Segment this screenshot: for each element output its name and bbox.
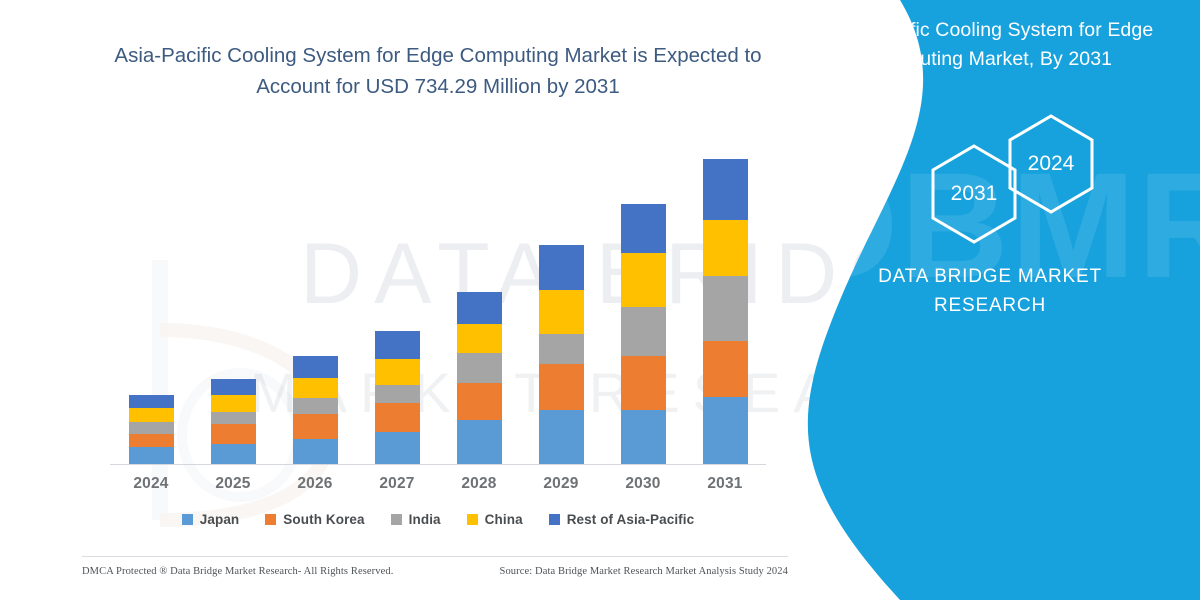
legend-item-rest-of-asia-pacific[interactable]: Rest of Asia-Pacific [549,512,695,527]
x-axis-label-2028: 2028 [438,475,520,493]
bar-segment-south-korea [375,403,420,431]
bar-segment-japan [457,420,502,464]
legend-swatch-icon [549,514,560,525]
bar-segment-india [539,334,584,363]
bar-segment-rest-of-asia-pacific [703,159,748,221]
x-axis-label-2031: 2031 [684,475,766,493]
chart-legend: JapanSouth KoreaIndiaChinaRest of Asia-P… [88,512,788,527]
bar-column [192,130,274,464]
chart-plot-area [110,130,766,465]
bar-segment-japan [621,410,666,464]
stacked-bar-2026 [293,356,338,464]
bar-segment-china [457,324,502,353]
stacked-bar-chart: 20242025202620272028202920302031 [88,130,788,470]
bar-segment-india [211,412,256,424]
footer-copyright: DMCA Protected ® Data Bridge Market Rese… [82,566,393,577]
stacked-bar-2031 [703,159,748,464]
footer-divider [82,556,788,557]
bar-segment-south-korea [703,341,748,397]
bar-segment-japan [129,447,174,464]
bar-segment-china [539,290,584,334]
x-axis-label-2029: 2029 [520,475,602,493]
legend-swatch-icon [182,514,193,525]
bar-segment-china [375,359,420,386]
hexagon-label-2031: 2031 [951,182,998,206]
bar-segment-south-korea [129,434,174,448]
x-axis-label-2027: 2027 [356,475,438,493]
bar-column [520,130,602,464]
bar-column [274,130,356,464]
bar-segment-china [129,408,174,422]
footer: DMCA Protected ® Data Bridge Market Rese… [82,566,788,577]
infographic-root: DATA BRIDGE MARKET RESEARCH Asia-Pacific… [0,0,1200,600]
bar-segment-japan [703,397,748,464]
legend-item-south-korea[interactable]: South Korea [265,512,364,527]
bar-segment-south-korea [293,414,338,440]
legend-item-japan[interactable]: Japan [182,512,240,527]
brand-line-2: RESEARCH [800,291,1180,320]
bar-segment-rest-of-asia-pacific [129,395,174,408]
bar-column [110,130,192,464]
bar-column [684,130,766,464]
legend-label: China [485,512,523,527]
bar-segment-china [703,220,748,276]
bar-segment-india [375,385,420,403]
bar-segment-china [621,253,666,307]
x-axis-label-2024: 2024 [110,475,192,493]
bar-segment-india [621,307,666,356]
legend-label: Japan [200,512,240,527]
legend-label: Rest of Asia-Pacific [567,512,695,527]
brand-line-1: DATA BRIDGE MARKET [800,262,1180,291]
bar-segment-china [293,378,338,399]
x-axis-label-2030: 2030 [602,475,684,493]
bar-column [438,130,520,464]
bar-segment-india [129,422,174,434]
x-axis-labels: 20242025202620272028202920302031 [110,475,766,493]
hexagon-label-2024: 2024 [1028,152,1075,176]
hexagon-year-2031: 2031 [928,142,1020,246]
bar-segment-japan [539,410,584,464]
hexagon-group: 2024 2031 [900,120,1160,240]
page-title: Asia-Pacific Cooling System for Edge Com… [88,40,788,102]
bar-column [602,130,684,464]
bar-segment-india [703,276,748,341]
bar-segment-rest-of-asia-pacific [539,245,584,290]
bar-segment-china [211,395,256,412]
legend-swatch-icon [467,514,478,525]
panel-title: Asia-Pacific Cooling System for Edge Com… [800,16,1180,75]
chart-bars [110,130,766,464]
stacked-bar-2025 [211,379,256,464]
x-axis-label-2025: 2025 [192,475,274,493]
legend-label: India [409,512,441,527]
x-axis-line [110,464,766,465]
legend-item-china[interactable]: China [467,512,523,527]
x-axis-label-2026: 2026 [274,475,356,493]
bar-segment-rest-of-asia-pacific [293,356,338,378]
stacked-bar-2024 [129,395,174,464]
stacked-bar-2029 [539,245,584,464]
bar-segment-india [457,353,502,383]
bar-segment-rest-of-asia-pacific [211,379,256,396]
legend-item-india[interactable]: India [391,512,441,527]
brand-panel: DBMR Asia-Pacific Cooling System for Edg… [780,0,1200,600]
legend-swatch-icon [265,514,276,525]
bar-segment-japan [293,439,338,464]
footer-source: Source: Data Bridge Market Research Mark… [500,566,788,577]
bar-segment-south-korea [539,364,584,410]
bar-segment-rest-of-asia-pacific [457,292,502,323]
bar-segment-rest-of-asia-pacific [375,331,420,359]
stacked-bar-2030 [621,204,666,464]
bar-segment-japan [375,432,420,464]
bar-segment-rest-of-asia-pacific [621,204,666,253]
stacked-bar-2027 [375,331,420,464]
bar-segment-south-korea [211,424,256,445]
bar-segment-japan [211,444,256,464]
legend-label: South Korea [283,512,364,527]
stacked-bar-2028 [457,292,502,464]
bar-segment-south-korea [457,383,502,419]
legend-swatch-icon [391,514,402,525]
bar-segment-india [293,398,338,414]
brand-name: DATA BRIDGE MARKET RESEARCH [800,262,1180,321]
bar-segment-south-korea [621,356,666,410]
bar-column [356,130,438,464]
